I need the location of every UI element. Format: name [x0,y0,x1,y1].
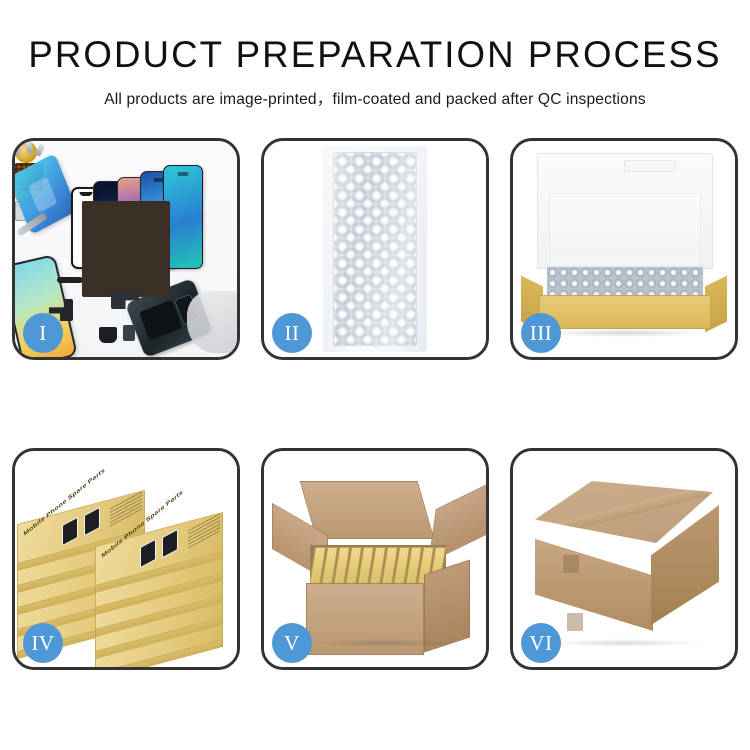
process-step-grid: I II [12,138,738,670]
step-badge-5: V [272,623,312,663]
sealed-shipping-carton [535,477,721,649]
box-shadow [543,329,707,337]
carton-left-face [535,535,653,631]
retail-box-top-right: Mobile Phone Spare Parts [95,529,223,551]
open-shipping-carton [282,479,474,651]
step-badge-4: IV [23,623,63,663]
step-panel-4: Mobile Phone Spare Parts [12,448,240,670]
page-subtitle: All products are image-printed，film-coat… [0,87,750,109]
box-phone-image [162,529,178,559]
step-badge-1: I [23,313,63,353]
page-title: PRODUCT PREPARATION PROCESS [4,34,747,76]
hand-shape [187,291,237,353]
camera-module-part [99,327,117,343]
retail-box-top-left: Mobile Phone Spare Parts [17,507,145,529]
carton-shadow [545,639,705,647]
step-badge-6: VI [521,623,561,663]
header: PRODUCT PREPARATION PROCESS All products… [0,0,750,109]
box-phone-image [62,517,78,547]
box-spec-text [188,511,220,548]
product-preparation-infographic: PRODUCT PREPARATION PROCESS All products… [0,0,750,750]
inner-box-front [539,295,711,329]
foam-insert [549,193,701,267]
step-panel-5: V [261,448,489,670]
lid-tab [624,160,676,172]
carton-shadow [308,639,460,647]
connector-part [123,325,135,341]
box-phone-image [140,539,156,569]
carton-hand-hole-top [563,555,579,573]
bubble-wrapped-contents [547,267,703,297]
step-badge-2: II [272,313,312,353]
speaker-part [57,277,83,283]
carton-hand-hole-bottom [567,613,583,631]
step-panel-1: I [12,138,240,360]
bubble-wrap-sleeve [323,146,427,352]
step-panel-2: II [261,138,489,360]
bubble-wrap-bubbles [333,152,417,346]
box-spec-text [110,489,142,526]
step-panel-6: VI [510,448,738,670]
step-badge-3: III [521,313,561,353]
step-panel-3: III [510,138,738,360]
